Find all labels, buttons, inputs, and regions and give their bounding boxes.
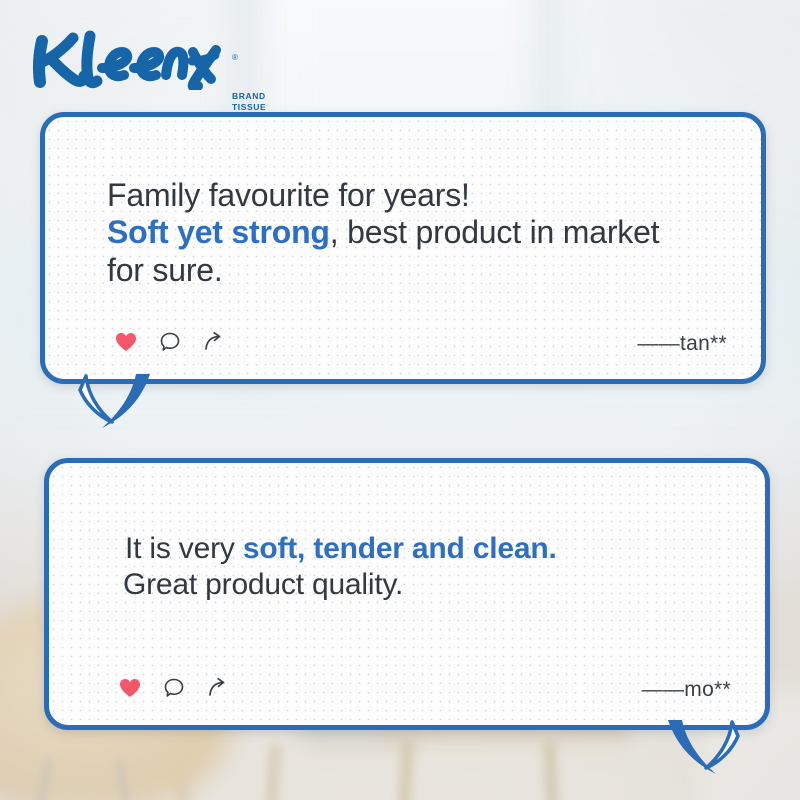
action-bar-1: [113, 329, 227, 355]
quote-line-2-suffix: , best product in market: [330, 214, 660, 250]
testimonial-quote-2: It is very soft, tender and clean. Great…: [125, 531, 557, 603]
comment-icon: [163, 677, 185, 699]
testimonial-signature-2: ——mo**: [642, 678, 731, 702]
heart-icon: [115, 332, 137, 352]
quote-line-1: Family favourite for years!: [107, 177, 659, 214]
quote-highlight: Soft yet strong: [107, 214, 330, 250]
testimonial-quote-1: Family favourite for years! Soft yet str…: [107, 177, 659, 289]
brand-tagline: BRAND TISSUE: [232, 91, 266, 112]
quote-line-1: It is very soft, tender and clean.: [125, 531, 557, 567]
share-button-2[interactable]: [205, 675, 231, 701]
share-button-1[interactable]: [201, 329, 227, 355]
quote-highlight: soft, tender and clean.: [243, 532, 557, 565]
tagline-line-1: BRAND: [232, 91, 266, 102]
quote-line-2: Soft yet strong, best product in market: [107, 214, 659, 251]
action-bar-2: [117, 675, 231, 701]
kleenex-wordmark-icon: [30, 28, 230, 90]
quote-line-2: Great product quality.: [123, 567, 557, 603]
registered-trademark-icon: ®: [232, 54, 238, 62]
like-button-2[interactable]: [117, 675, 143, 701]
heart-icon: [119, 678, 141, 698]
brand-logo: ® BRAND TISSUE: [30, 28, 238, 90]
comment-icon: [159, 331, 181, 353]
quote-line-1-prefix: It is very: [125, 532, 243, 565]
share-icon: [207, 677, 229, 699]
testimonial-card-1: Family favourite for years! Soft yet str…: [40, 112, 766, 384]
testimonial-card-2: It is very soft, tender and clean. Great…: [44, 458, 770, 730]
quote-line-3: for sure.: [107, 252, 659, 289]
comment-button-2[interactable]: [161, 675, 187, 701]
tagline-line-2: TISSUE: [232, 102, 266, 113]
testimonial-signature-1: ——tan**: [637, 332, 727, 356]
share-icon: [203, 331, 225, 353]
comment-button-1[interactable]: [157, 329, 183, 355]
like-button-1[interactable]: [113, 329, 139, 355]
